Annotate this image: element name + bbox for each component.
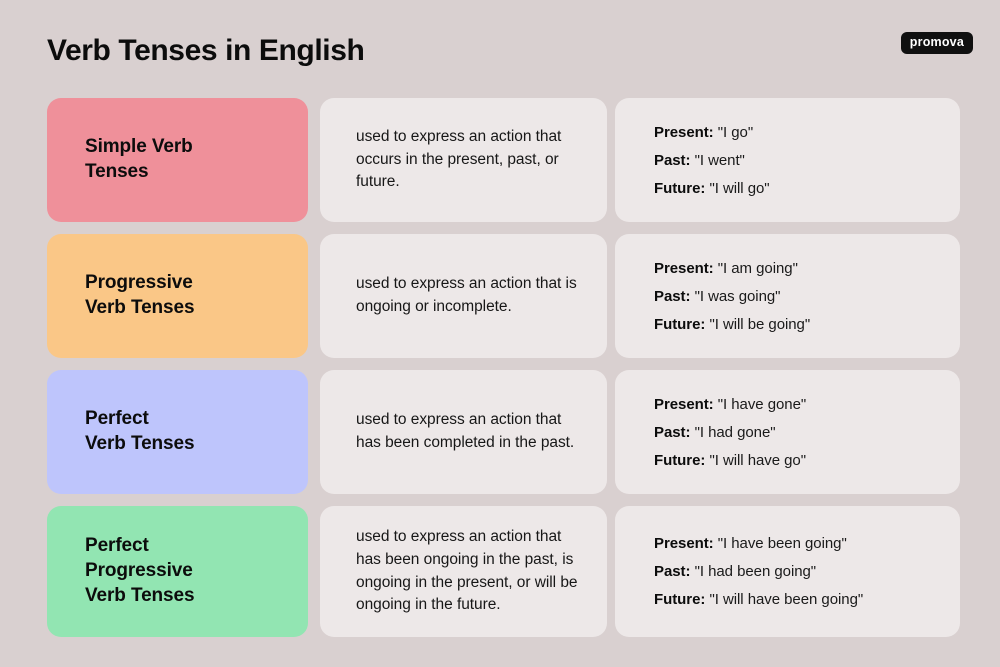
category-title: ProgressiveVerb Tenses <box>85 271 194 320</box>
example-value-present: "I go" <box>718 124 753 141</box>
column-gap <box>308 234 320 358</box>
definition-text: used to express an action that has been … <box>356 526 589 617</box>
example-value-future: "I will be going" <box>709 316 810 333</box>
example-label-present: Present: <box>654 535 714 552</box>
category-title: PerfectVerb Tenses <box>85 407 194 456</box>
table-row: PerfectVerb Tenses used to express an ac… <box>0 370 1000 494</box>
example-value-present: "I have gone" <box>718 396 806 413</box>
examples-card-progressive: Present: "I am going" Past: "I was going… <box>615 234 960 358</box>
example-value-present: "I am going" <box>718 260 798 277</box>
column-gap <box>308 506 320 637</box>
example-value-past: "I had gone" <box>695 424 776 441</box>
definition-text: used to express an action that occurs in… <box>356 126 589 194</box>
example-label-past: Past: <box>654 152 690 169</box>
table-row: ProgressiveVerb Tenses used to express a… <box>0 234 1000 358</box>
table-row: PerfectProgressiveVerb Tenses used to ex… <box>0 506 1000 637</box>
example-label-future: Future: <box>654 316 705 333</box>
example-value-past: "I was going" <box>695 288 781 305</box>
page-header: Verb Tenses in English promova <box>0 0 1000 98</box>
definition-card-perfect: used to express an action that has been … <box>320 370 607 494</box>
example-label-past: Past: <box>654 288 690 305</box>
example-label-present: Present: <box>654 124 714 141</box>
example-value-present: "I have been going" <box>718 535 847 552</box>
example-future: Future: "I will have go" <box>654 453 944 468</box>
example-label-future: Future: <box>654 591 705 608</box>
category-title: Simple VerbTenses <box>85 135 193 184</box>
logo-text: promova <box>910 36 964 49</box>
promova-logo: promova <box>901 32 973 54</box>
example-value-past: "I had been going" <box>695 563 817 580</box>
category-card-simple: Simple VerbTenses <box>47 98 308 222</box>
example-value-future: "I will have go" <box>709 452 806 469</box>
category-card-perfect: PerfectVerb Tenses <box>47 370 308 494</box>
examples-card-perfect: Present: "I have gone" Past: "I had gone… <box>615 370 960 494</box>
example-value-future: "I will have been going" <box>709 591 863 608</box>
example-label-past: Past: <box>654 424 690 441</box>
example-present: Present: "I have gone" <box>654 397 944 412</box>
example-value-future: "I will go" <box>709 180 769 197</box>
example-future: Future: "I will be going" <box>654 317 944 332</box>
example-label-past: Past: <box>654 563 690 580</box>
category-card-progressive: ProgressiveVerb Tenses <box>47 234 308 358</box>
example-label-present: Present: <box>654 396 714 413</box>
table-row: Simple VerbTenses used to express an act… <box>0 98 1000 222</box>
examples-card-simple: Present: "I go" Past: "I went" Future: "… <box>615 98 960 222</box>
column-gap <box>308 98 320 222</box>
category-title: PerfectProgressiveVerb Tenses <box>85 534 194 608</box>
example-value-past: "I went" <box>695 152 745 169</box>
definition-card-simple: used to express an action that occurs in… <box>320 98 607 222</box>
example-label-future: Future: <box>654 452 705 469</box>
example-present: Present: "I am going" <box>654 261 944 276</box>
example-past: Past: "I was going" <box>654 289 944 304</box>
column-gap <box>607 370 615 494</box>
example-present: Present: "I have been going" <box>654 536 944 551</box>
example-label-future: Future: <box>654 180 705 197</box>
column-gap <box>607 234 615 358</box>
column-gap <box>607 98 615 222</box>
definition-text: used to express an action that is ongoin… <box>356 273 589 318</box>
example-future: Future: "I will go" <box>654 181 944 196</box>
page-title: Verb Tenses in English <box>47 34 364 68</box>
definition-text: used to express an action that has been … <box>356 409 589 454</box>
example-label-present: Present: <box>654 260 714 277</box>
column-gap <box>308 370 320 494</box>
example-past: Past: "I went" <box>654 153 944 168</box>
example-present: Present: "I go" <box>654 125 944 140</box>
verb-tenses-grid: Simple VerbTenses used to express an act… <box>0 98 1000 637</box>
definition-card-perfect-progressive: used to express an action that has been … <box>320 506 607 637</box>
example-past: Past: "I had gone" <box>654 425 944 440</box>
example-future: Future: "I will have been going" <box>654 592 944 607</box>
examples-card-perfect-progressive: Present: "I have been going" Past: "I ha… <box>615 506 960 637</box>
column-gap <box>607 506 615 637</box>
category-card-perfect-progressive: PerfectProgressiveVerb Tenses <box>47 506 308 637</box>
definition-card-progressive: used to express an action that is ongoin… <box>320 234 607 358</box>
example-past: Past: "I had been going" <box>654 564 944 579</box>
